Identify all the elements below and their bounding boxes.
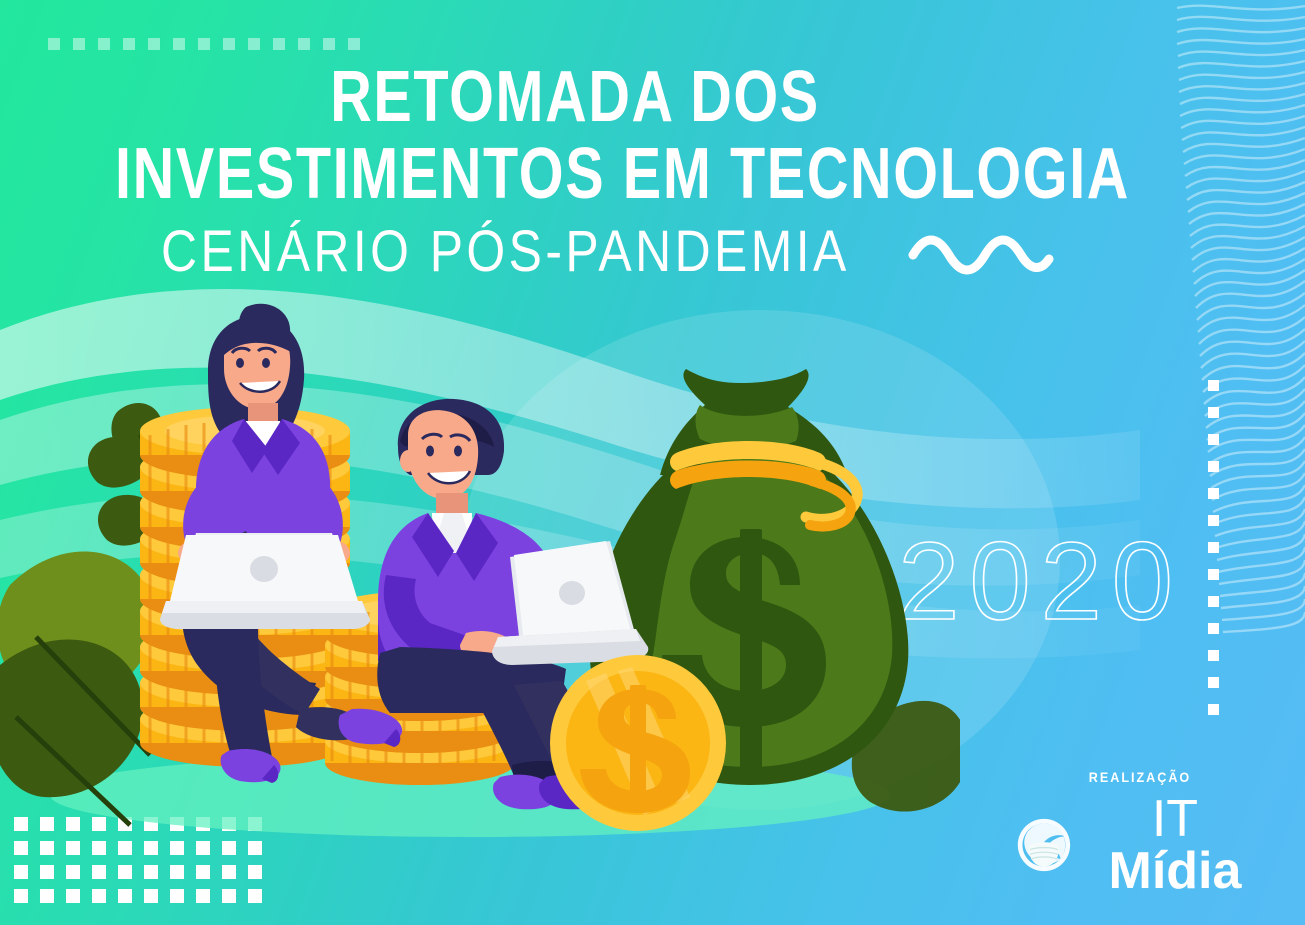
face-mask-icon <box>1027 842 1061 866</box>
laptop-woman <box>160 533 370 629</box>
subtitle-block: CENÁRIO PÓS-PANDEMIA <box>0 218 1160 285</box>
dot <box>298 38 310 50</box>
dot <box>1208 623 1219 634</box>
dot <box>1208 488 1219 499</box>
eye <box>236 358 244 368</box>
dot <box>223 38 235 50</box>
dot <box>273 38 285 50</box>
dot <box>98 38 110 50</box>
decorative-dot-column-right <box>1208 380 1219 715</box>
dot <box>1208 434 1219 445</box>
dot <box>1208 407 1219 418</box>
dot <box>1208 569 1219 580</box>
dot <box>73 38 85 50</box>
page-subtitle: CENÁRIO PÓS-PANDEMIA <box>161 218 850 285</box>
dot <box>1208 650 1219 661</box>
wavy-line-icon <box>905 229 1055 275</box>
dot <box>198 38 210 50</box>
edge-wave-line-pattern <box>1165 0 1305 640</box>
dot <box>1208 461 1219 472</box>
dot <box>123 38 135 50</box>
headline-block: RETOMADA DOS INVESTIMENTOS EM TECNOLOGIA <box>0 62 1150 209</box>
brand-name-light: IT <box>1152 790 1198 848</box>
dot <box>1208 380 1219 391</box>
dot <box>1208 704 1219 715</box>
dot <box>173 38 185 50</box>
dot <box>1208 596 1219 607</box>
it-midia-swirl-mask-icon <box>1015 814 1073 876</box>
dot <box>1208 542 1219 553</box>
footer-block: REALIZAÇÃO <box>1015 769 1265 897</box>
dot <box>348 38 360 50</box>
page-title-line-2: INVESTIMENTOS EM TECNOLOGIA <box>115 139 1035 210</box>
gold-coin <box>550 655 726 831</box>
eye <box>454 446 462 457</box>
page-title-line-1: RETOMADA DOS <box>115 62 1035 133</box>
brand-name-bold: Mídia <box>1109 842 1242 900</box>
dot <box>148 38 160 50</box>
credit-label: REALIZAÇÃO <box>1028 769 1253 785</box>
eye <box>426 446 434 457</box>
dot <box>1208 515 1219 526</box>
decorative-dot-row-top <box>48 38 360 50</box>
hero-illustration <box>0 285 960 925</box>
dot <box>323 38 335 50</box>
dot <box>1208 677 1219 688</box>
dot <box>48 38 60 50</box>
brand-wordmark: IT Mídia <box>1085 793 1265 897</box>
brand-logo[interactable]: IT Mídia <box>1015 793 1265 897</box>
eye <box>262 358 270 368</box>
poster-canvas: RETOMADA DOS INVESTIMENTOS EM TECNOLOGIA… <box>0 0 1305 925</box>
dot <box>248 38 260 50</box>
